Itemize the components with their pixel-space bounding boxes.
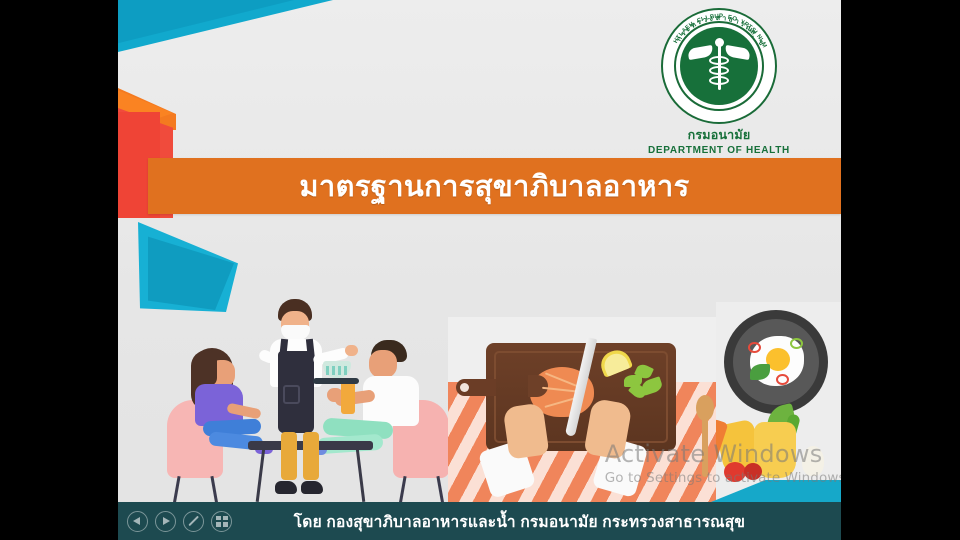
letterbox-left xyxy=(0,0,118,540)
next-slide-button[interactable] xyxy=(155,511,176,532)
grid-icon xyxy=(216,516,228,527)
left-arrow-icon xyxy=(133,517,140,525)
right-arrow-icon xyxy=(163,517,170,525)
letterbox-right xyxy=(841,0,960,540)
logo-caption-thai: กรมอนามัย xyxy=(629,128,809,144)
illustration-band xyxy=(118,272,841,502)
previous-slide-button[interactable] xyxy=(127,511,148,532)
juice-glass xyxy=(341,380,355,414)
ministry-logo-block: กระทรวงสาธารณสุขMINISTRY OF PUBLIC HEALT… xyxy=(629,8,809,157)
pen-icon xyxy=(188,516,198,526)
serving-tray xyxy=(313,378,359,384)
salmon-cutting-board-illustration xyxy=(448,317,728,502)
fried-egg-pan-illustration xyxy=(716,302,841,502)
waiter-figure-with-mask xyxy=(261,299,339,494)
restaurant-scene-illustration xyxy=(163,282,453,502)
presentation-slide[interactable]: กระทรวงสาธารณสุขMINISTRY OF PUBLIC HEALT… xyxy=(118,0,841,540)
pen-annotation-button[interactable] xyxy=(183,511,204,532)
logo-caption-english: DEPARTMENT OF HEALTH xyxy=(629,144,809,157)
parsley-garnish xyxy=(624,365,664,401)
seated-man-figure xyxy=(347,340,443,480)
face-mask-icon xyxy=(281,325,310,340)
chef-hand-left xyxy=(503,402,550,459)
slide-footer-text: โดย กองสุขาภิบาลอาหารและน้ำ กรมอนามัย กร… xyxy=(232,509,841,534)
slideshow-bottom-bar: โดย กองสุขาภิบาลอาหารและน้ำ กรมอนามัย กร… xyxy=(118,502,841,540)
ministry-seal-icon: กระทรวงสาธารณสุขMINISTRY OF PUBLIC HEALT… xyxy=(661,8,777,124)
vegetable-pile xyxy=(716,396,841,482)
title-banner: มาตรฐานการสุขาภิบาลอาหาร xyxy=(148,158,841,214)
slide-title: มาตรฐานการสุขาภิบาลอาหาร xyxy=(299,163,689,209)
slideshow-screen: กระทรวงสาธารณสุขMINISTRY OF PUBLIC HEALT… xyxy=(0,0,960,540)
slideshow-controls xyxy=(118,511,232,532)
slide-menu-button[interactable] xyxy=(211,511,232,532)
seated-woman-figure xyxy=(181,348,267,480)
